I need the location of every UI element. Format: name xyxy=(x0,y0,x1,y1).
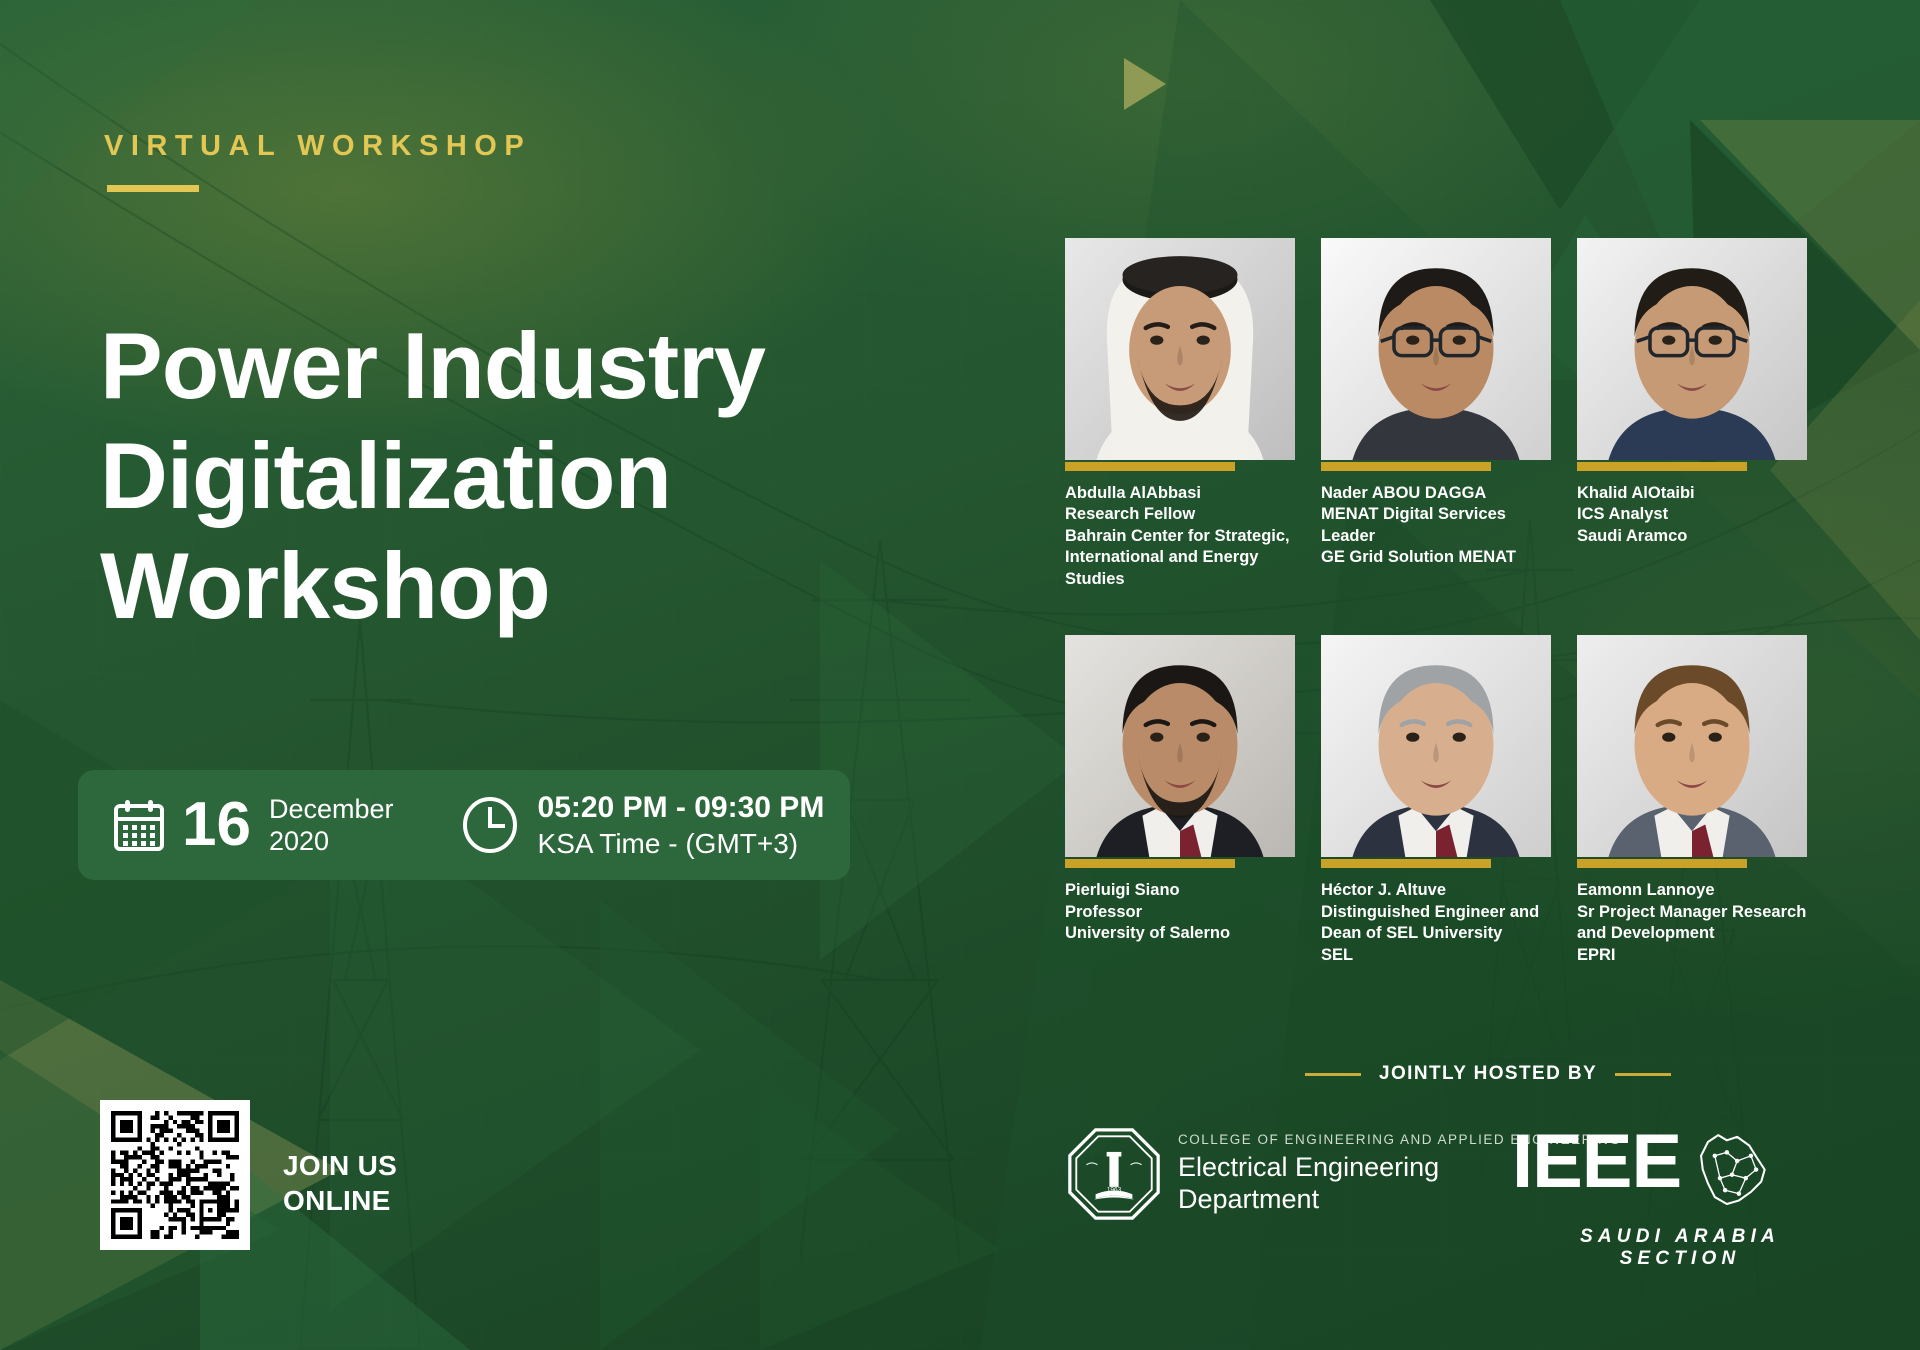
join-us-online-label: JOIN US ONLINE xyxy=(283,1148,397,1219)
speaker-card: Nader ABOU DAGGAMENAT Digital Services L… xyxy=(1321,238,1551,590)
event-date-group: 16 December 2020 xyxy=(114,793,394,858)
speaker-accent-bar xyxy=(1577,462,1747,471)
clock-icon xyxy=(462,796,518,854)
speaker-org: Bahrain Center for Strategic, Internatio… xyxy=(1065,526,1301,590)
speaker-role: MENAT Digital Services Leader xyxy=(1321,504,1557,547)
speaker-card: Eamonn LannoyeSr Project Manager Researc… xyxy=(1577,635,1807,966)
speaker-name: Nader ABOU DAGGA xyxy=(1321,483,1557,504)
ieee-wordmark-row: IEEE xyxy=(1512,1128,1842,1216)
speaker-card: Abdulla AlAbbasiResearch FellowBahrain C… xyxy=(1065,238,1295,590)
ieee-wordmark: IEEE xyxy=(1512,1128,1681,1196)
speaker-card: Héctor J. AltuveDistinguished Engineer a… xyxy=(1321,635,1551,966)
jointly-hosted-label: JOINTLY HOSTED BY xyxy=(1379,1063,1597,1085)
kicker-label: VIRTUAL WORKSHOP xyxy=(104,130,531,163)
speaker-org: University of Salerno xyxy=(1065,923,1301,944)
event-year: 2020 xyxy=(269,825,394,857)
jointly-hosted-rule-right xyxy=(1615,1073,1671,1076)
speaker-info: Khalid AlOtaibiICS AnalystSaudi Aramco xyxy=(1577,483,1813,547)
join-line-1: JOIN US xyxy=(283,1148,397,1183)
speaker-info: Nader ABOU DAGGAMENAT Digital Services L… xyxy=(1321,483,1557,569)
event-timezone: KSA Time - (GMT+3) xyxy=(538,826,825,861)
ieee-section-label: SAUDI ARABIA SECTION xyxy=(1512,1226,1842,1270)
kfupm-seal-icon: 1963 xyxy=(1068,1128,1160,1220)
speaker-role: Research Fellow xyxy=(1065,504,1301,525)
jointly-hosted-rule-left xyxy=(1305,1073,1361,1076)
speaker-card: Pierluigi SianoProfessorUniversity of Sa… xyxy=(1065,635,1295,966)
speaker-photo xyxy=(1065,238,1295,460)
event-datetime-bar: 16 December 2020 05:20 PM - 09:30 PM KSA… xyxy=(78,770,850,880)
event-day: 16 xyxy=(182,794,251,856)
event-time-range: 05:20 PM - 09:30 PM xyxy=(538,789,825,827)
speaker-card: Khalid AlOtaibiICS AnalystSaudi Aramco xyxy=(1577,238,1807,590)
speaker-org: Saudi Aramco xyxy=(1577,526,1813,547)
speaker-accent-bar xyxy=(1321,462,1491,471)
speaker-info: Héctor J. AltuveDistinguished Engineer a… xyxy=(1321,880,1557,966)
speaker-role: ICS Analyst xyxy=(1577,504,1813,525)
speaker-photo xyxy=(1321,238,1551,460)
speaker-info: Abdulla AlAbbasiResearch FellowBahrain C… xyxy=(1065,483,1301,590)
saudi-arabia-map-icon xyxy=(1689,1130,1775,1216)
speaker-role: Sr Project Manager Research and Developm… xyxy=(1577,902,1813,945)
event-month: December xyxy=(269,793,394,825)
qr-code[interactable] xyxy=(100,1100,250,1250)
speaker-name: Abdulla AlAbbasi xyxy=(1065,483,1301,504)
speaker-name: Héctor J. Altuve xyxy=(1321,880,1557,901)
speakers-grid: Abdulla AlAbbasiResearch FellowBahrain C… xyxy=(1065,238,1865,966)
speaker-info: Eamonn LannoyeSr Project Manager Researc… xyxy=(1577,880,1813,966)
speaker-role: Professor xyxy=(1065,902,1301,923)
speaker-role: Distinguished Engineer and Dean of SEL U… xyxy=(1321,902,1557,945)
speaker-photo xyxy=(1577,238,1807,460)
speaker-accent-bar xyxy=(1065,462,1235,471)
speaker-info: Pierluigi SianoProfessorUniversity of Sa… xyxy=(1065,880,1301,944)
kicker-underline xyxy=(107,185,199,192)
speaker-name: Khalid AlOtaibi xyxy=(1577,483,1813,504)
speaker-photo xyxy=(1065,635,1295,857)
svg-text:1963: 1963 xyxy=(1107,1186,1122,1193)
speaker-org: SEL xyxy=(1321,945,1557,966)
page-title: Power Industry Digitalization Workshop xyxy=(100,311,960,641)
qr-code-canvas xyxy=(111,1111,239,1239)
speaker-accent-bar xyxy=(1577,859,1747,868)
speaker-org: EPRI xyxy=(1577,945,1813,966)
event-month-year: December 2020 xyxy=(269,793,394,858)
speaker-org: GE Grid Solution MENAT xyxy=(1321,547,1557,568)
join-line-2: ONLINE xyxy=(283,1183,397,1218)
ieee-logo-block: IEEE SAUDI ARABIA SECTION xyxy=(1512,1128,1842,1270)
speaker-name: Eamonn Lannoye xyxy=(1577,880,1813,901)
speaker-accent-bar xyxy=(1065,859,1235,868)
calendar-icon xyxy=(114,799,164,851)
jointly-hosted-by: JOINTLY HOSTED BY xyxy=(1305,1063,1671,1085)
speaker-photo xyxy=(1577,635,1807,857)
speaker-accent-bar xyxy=(1321,859,1491,868)
event-poster: VIRTUAL WORKSHOP Power Industry Digitali… xyxy=(0,0,1920,1350)
speaker-name: Pierluigi Siano xyxy=(1065,880,1301,901)
speaker-photo xyxy=(1321,635,1551,857)
event-time-text: 05:20 PM - 09:30 PM KSA Time - (GMT+3) xyxy=(538,789,825,862)
event-time-group: 05:20 PM - 09:30 PM KSA Time - (GMT+3) xyxy=(462,789,825,862)
